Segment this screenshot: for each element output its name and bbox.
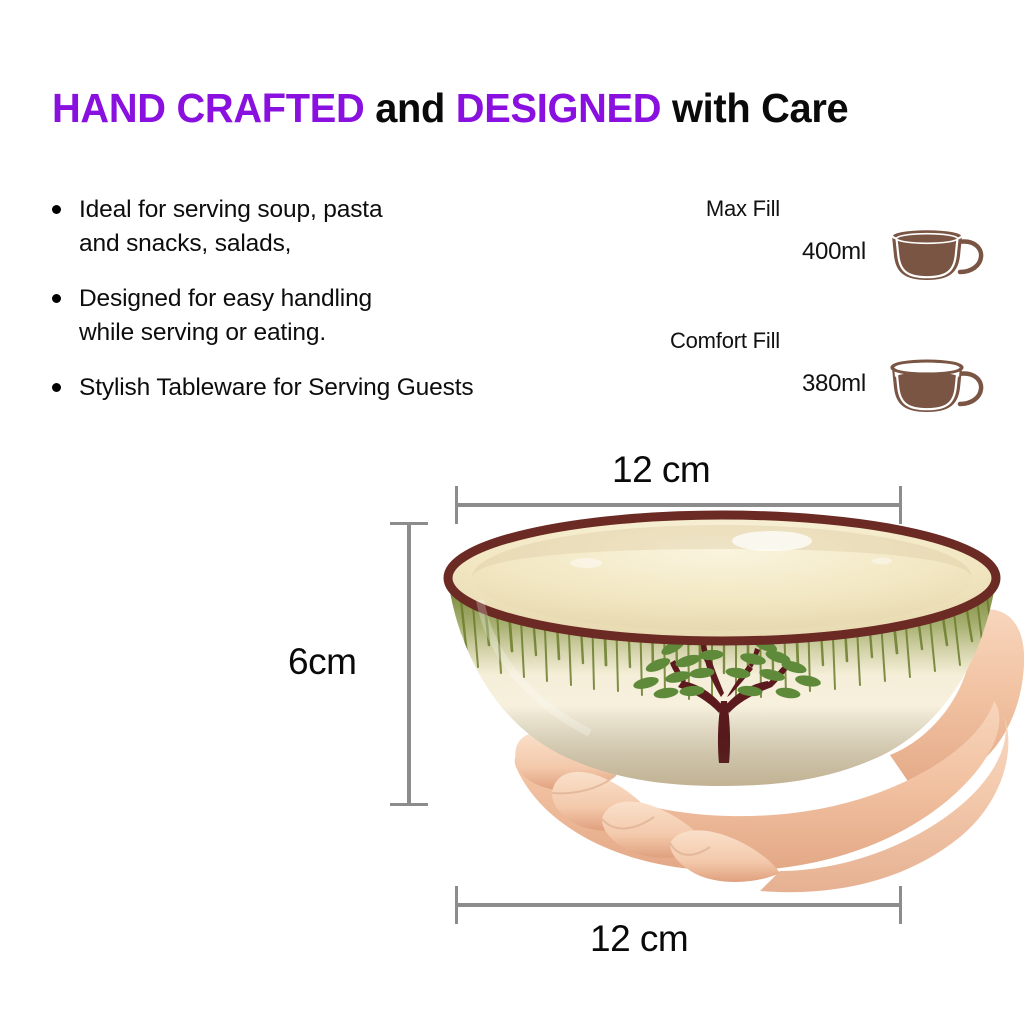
bullet-line-1: Ideal for serving soup, pasta	[79, 193, 606, 227]
bullet-dot-icon	[52, 205, 61, 214]
fill-indicator-title: Comfort Fill	[670, 328, 780, 354]
bullet-dot-icon	[52, 383, 61, 392]
fill-indicator-volume: 380ml	[802, 370, 866, 398]
product-photo-bowl-in-hand	[420, 505, 1024, 895]
dimension-label-bottom-width: 12 cm	[590, 918, 688, 960]
dimension-line-height	[407, 522, 411, 806]
dimension-cap-bottom-left	[455, 886, 458, 924]
page-title: HAND CRAFTED and DESIGNED with Care	[52, 86, 954, 132]
bullet-stylish-tableware: Stylish Tableware for Serving Guests	[46, 371, 606, 405]
dimension-label-top-width: 12 cm	[612, 449, 710, 491]
dimension-cap-bottom-right	[899, 886, 902, 924]
bullet-dot-icon	[52, 294, 61, 303]
coffee-cup-icon	[884, 354, 984, 416]
bullet-line-1: Designed for easy handling	[79, 282, 606, 316]
bullet-ideal-for-serving: Ideal for serving soup, pasta and snacks…	[46, 193, 606, 260]
bullet-line-2: and snacks, salads,	[79, 227, 606, 261]
bullet-line-2: while serving or eating.	[79, 316, 606, 350]
page-title-part-and: and	[364, 85, 455, 131]
dimension-line-bottom	[455, 903, 902, 907]
page-title-part-designed: DESIGNED	[456, 85, 661, 131]
bullet-easy-handling: Designed for easy handling while serving…	[46, 282, 606, 349]
coffee-cup-icon	[884, 222, 984, 284]
page-title-part-hand-crafted: HAND CRAFTED	[52, 85, 364, 131]
feature-list: Ideal for serving soup, pasta and snacks…	[46, 193, 606, 405]
fill-indicator-title: Max Fill	[706, 196, 780, 222]
fill-indicator-volume: 400ml	[802, 238, 866, 266]
page-title-part-with-care: with Care	[661, 85, 848, 131]
dimension-label-height: 6cm	[288, 641, 356, 683]
infographic-canvas: HAND CRAFTED and DESIGNED with Care Idea…	[0, 0, 1024, 1024]
bullet-line-1: Stylish Tableware for Serving Guests	[79, 371, 606, 405]
